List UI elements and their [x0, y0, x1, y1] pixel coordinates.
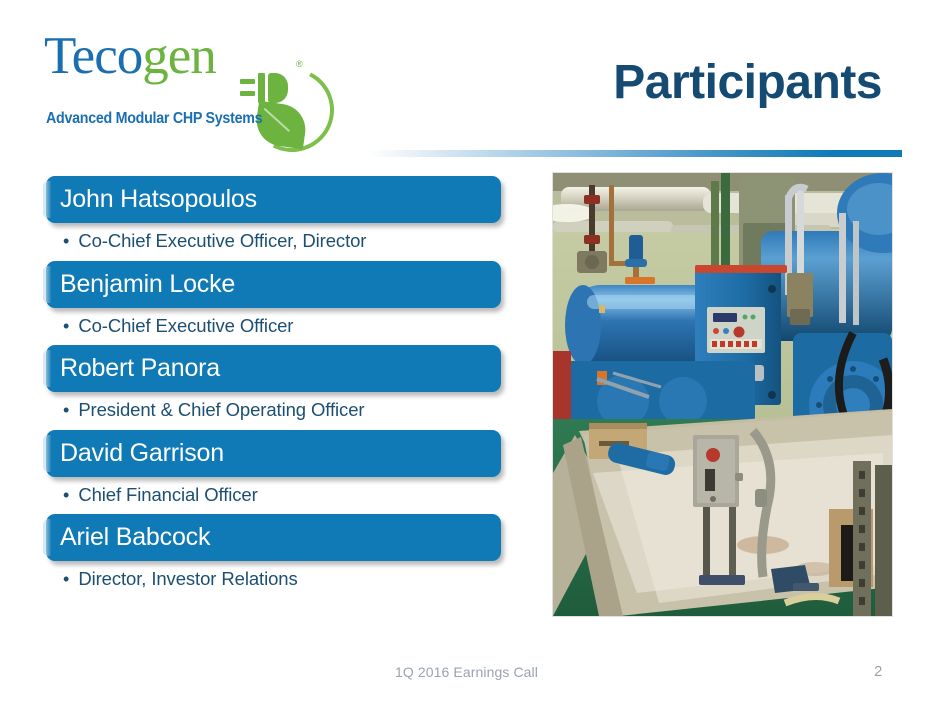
participant-name: Robert Panora [46, 356, 220, 381]
participant-name: Benjamin Locke [46, 272, 235, 297]
participant-role-row: • Co-Chief Executive Officer [46, 308, 516, 346]
footer-note: 1Q 2016 Earnings Call [395, 664, 538, 680]
participant-role: Co-Chief Executive Officer, Director [78, 232, 366, 251]
header-divider [40, 150, 902, 157]
bullet-icon: • [63, 232, 69, 250]
participant-name-banner: Robert Panora [46, 345, 501, 392]
page-number: 2 [874, 663, 882, 680]
list-item: Ariel Babcock • Director, Investor Relat… [46, 514, 516, 599]
list-item: John Hatsopoulos • Co-Chief Executive Of… [46, 176, 516, 261]
participant-role: President & Chief Operating Officer [78, 401, 364, 420]
list-item: Benjamin Locke • Co-Chief Executive Offi… [46, 261, 516, 346]
participant-name: John Hatsopoulos [46, 187, 257, 212]
participant-name-banner: David Garrison [46, 430, 501, 477]
page-title: Participants [613, 59, 882, 107]
participant-name: Ariel Babcock [46, 525, 210, 550]
list-item: David Garrison • Chief Financial Officer [46, 430, 516, 515]
logo-wordmark-teco: Teco [44, 27, 142, 85]
logo-wordmark: Tecogen [44, 30, 216, 83]
participant-name: David Garrison [46, 441, 224, 466]
equipment-photo [553, 173, 892, 616]
participant-role: Director, Investor Relations [78, 570, 297, 589]
participant-name-banner: Ariel Babcock [46, 514, 501, 561]
participant-role-row: • Director, Investor Relations [46, 561, 516, 599]
participant-role-row: • President & Chief Operating Officer [46, 392, 516, 430]
participant-role-row: • Chief Financial Officer [46, 477, 516, 515]
slide-canvas: Tecogen ® Advanced Modular CHP Systems P… [0, 0, 940, 705]
registered-trademark-icon: ® [296, 59, 303, 69]
participant-name-banner: Benjamin Locke [46, 261, 501, 308]
bullet-icon: • [63, 486, 69, 504]
bullet-icon: • [63, 401, 69, 419]
tecogen-logo: Tecogen ® Advanced Modular CHP Systems [44, 26, 334, 146]
bullet-icon: • [63, 317, 69, 335]
participant-name-banner: John Hatsopoulos [46, 176, 501, 223]
list-item: Robert Panora • President & Chief Operat… [46, 345, 516, 430]
participant-role: Chief Financial Officer [78, 486, 257, 505]
participant-role: Co-Chief Executive Officer [78, 317, 293, 336]
bullet-icon: • [63, 570, 69, 588]
logo-wordmark-gen: gen [142, 27, 216, 85]
participant-role-row: • Co-Chief Executive Officer, Director [46, 223, 516, 261]
logo-tagline: Advanced Modular CHP Systems [46, 110, 262, 128]
participants-list: John Hatsopoulos • Co-Chief Executive Of… [46, 176, 516, 599]
